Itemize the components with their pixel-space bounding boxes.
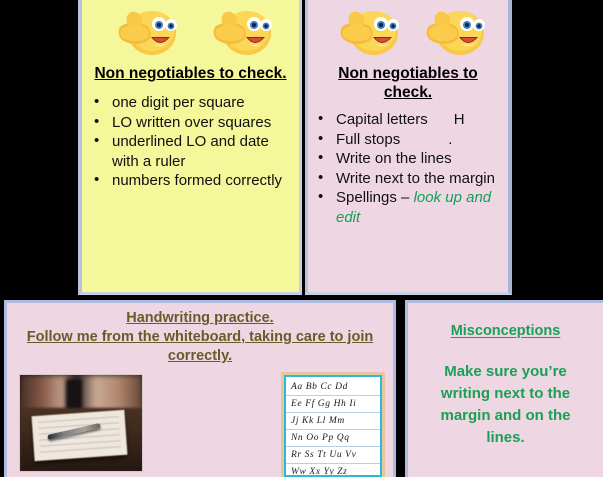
maths-heading-text: Non negotiables to check. xyxy=(94,65,286,82)
panel-non-negotiables-maths: Non negotiables to check. one digit per … xyxy=(78,0,302,295)
bullet-text: Spellings – xyxy=(336,189,414,206)
alphabet-row: Jj Kk Ll Mm xyxy=(286,413,380,430)
list-item: Write next to the margin xyxy=(314,169,504,189)
thumbs-up-smiley-icon xyxy=(202,4,274,58)
list-item: LO written over squares xyxy=(90,113,293,133)
photo-notebook xyxy=(32,410,128,461)
thumbs-up-smiley-icon xyxy=(329,4,401,58)
thumbs-up-smiley-icon xyxy=(107,4,179,58)
alphabet-row: Rr Ss Tt Uu Vv xyxy=(286,447,380,464)
english-heading-text: Non negotiables to check. xyxy=(338,65,478,101)
bullet-text: LO written over squares xyxy=(112,114,271,131)
alphabet-row: Ww Xx Yy Zz xyxy=(286,464,380,477)
maths-bullet-list: one digit per square LO written over squ… xyxy=(82,83,299,191)
photo-cup xyxy=(66,379,82,412)
alphabet-row: Ee Ff Gg Hh Ii xyxy=(286,396,380,413)
bullet-text: underlined LO and date with a ruler xyxy=(112,133,269,170)
maths-heading: Non negotiables to check. xyxy=(82,62,299,83)
bullet-text: Write on the lines xyxy=(336,150,452,167)
list-item: one digit per square xyxy=(90,93,293,113)
bullet-text: Write next to the margin xyxy=(336,170,495,187)
handwriting-heading-line2: Follow me from the whiteboard, taking ca… xyxy=(27,329,373,364)
thumbs-up-smiley-icon xyxy=(415,4,487,58)
list-item: Full stops. xyxy=(314,130,504,150)
bullet-text: numbers formed correctly xyxy=(112,172,282,189)
panel-misconceptions: Misconceptions Make sure you’re writing … xyxy=(405,300,603,477)
alphabet-card-inner: Aa Bb Cc Dd Ee Ff Gg Hh Ii Jj Kk Ll Mm N… xyxy=(284,375,382,477)
emoji-row-maths xyxy=(82,0,299,62)
alphabet-row: Nn Oo Pp Qq xyxy=(286,430,380,447)
list-item: Capital lettersH xyxy=(314,110,504,130)
list-item: underlined LO and date with a ruler xyxy=(90,132,293,171)
list-item: Write on the lines xyxy=(314,149,504,169)
notebook-and-pen-photo xyxy=(19,374,143,472)
english-bullet-list: Capital lettersH Full stops. Write on th… xyxy=(308,102,508,227)
bullet-example: H xyxy=(454,110,465,130)
bullet-text: one digit per square xyxy=(112,94,245,111)
alphabet-row: Aa Bb Cc Dd xyxy=(286,379,380,396)
panel-non-negotiables-english: Non negotiables to check. Capital letter… xyxy=(305,0,512,295)
handwriting-heading-line1: Handwriting practice. xyxy=(126,310,273,326)
misconceptions-body: Make sure you’re writing next to the mar… xyxy=(408,339,603,449)
list-item: numbers formed correctly xyxy=(90,171,293,191)
bullet-example: . xyxy=(448,130,452,150)
bullet-text: Full stops xyxy=(336,131,400,148)
handwriting-heading: Handwriting practice. Follow me from the… xyxy=(7,303,393,366)
emoji-row-english xyxy=(308,0,508,62)
handwriting-body: Aa Bb Cc Dd Ee Ff Gg Hh Ii Jj Kk Ll Mm N… xyxy=(7,366,393,477)
misconceptions-title-text: Misconceptions xyxy=(451,323,561,339)
misconceptions-title: Misconceptions xyxy=(408,303,603,339)
bullet-text: Capital letters xyxy=(336,111,428,128)
list-item: Spellings – look up and edit xyxy=(314,188,504,227)
english-heading: Non negotiables to check. xyxy=(308,62,508,102)
alphabet-handwriting-card: Aa Bb Cc Dd Ee Ff Gg Hh Ii Jj Kk Ll Mm N… xyxy=(281,372,385,477)
panel-handwriting-practice: Handwriting practice. Follow me from the… xyxy=(4,300,396,477)
